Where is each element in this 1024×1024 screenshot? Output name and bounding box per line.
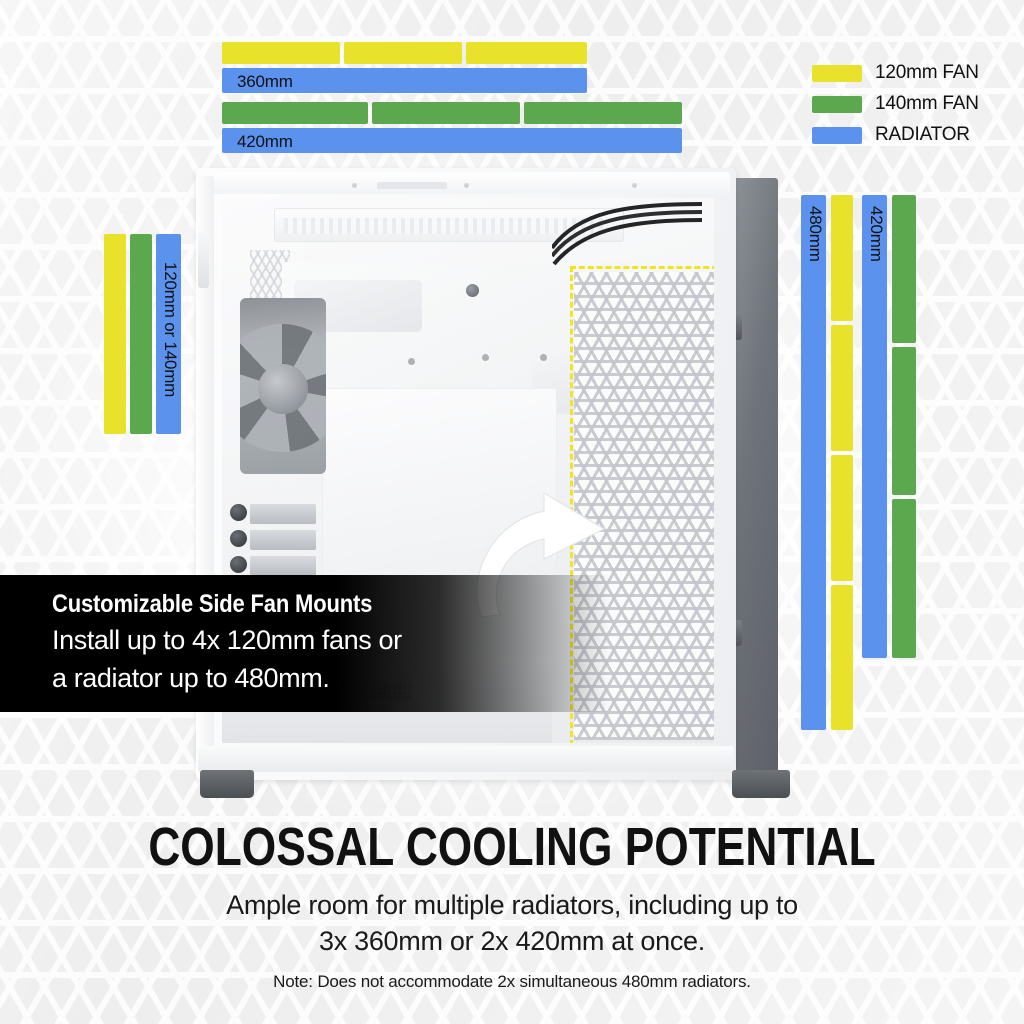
standoff-3	[482, 354, 489, 361]
side-fan-mount-callout: Customizable Side Fan Mounts Install up …	[0, 575, 610, 712]
front-panel-clip	[198, 232, 209, 288]
radiator-bar-420-side	[862, 195, 887, 658]
rear-io-panel	[734, 178, 778, 782]
callout-heading: Customizable Side Fan Mounts	[52, 590, 372, 619]
cable-bundle	[552, 202, 712, 268]
rear-exhaust-fan	[240, 298, 326, 474]
fan-segment-480-4	[831, 585, 853, 730]
slot-thumbscrew-3	[230, 556, 247, 573]
subtitle-line-1: Ample room for multiple radiators, inclu…	[0, 887, 1024, 923]
slot-thumbscrew-2	[230, 530, 247, 547]
fan-140-bar-left	[130, 234, 152, 434]
fan-120-bar-left	[104, 234, 126, 434]
expansion-slot-1	[250, 504, 316, 524]
case-foot-right	[732, 770, 790, 798]
top-screw-left	[352, 183, 357, 188]
radiator-label-420-top: 420mm	[237, 132, 293, 152]
callout-line-2: a radiator up to 480mm.	[52, 663, 329, 694]
tray-screw-top	[466, 284, 479, 297]
legend-label-120mm-fan: 120mm FAN	[875, 62, 979, 84]
case-top-panel	[202, 172, 730, 194]
fan-segment-420-1	[222, 102, 368, 124]
fan-segment-480-3	[831, 455, 853, 581]
legend-label-140mm-fan: 140mm FAN	[875, 93, 979, 115]
case-foot-left	[200, 770, 254, 798]
marketing-image: 360mm 420mm 120mm FAN 140mm FAN RADIATOR…	[0, 0, 1024, 1024]
legend-label-radiator: RADIATOR	[875, 124, 970, 146]
radiator-swatch	[812, 127, 862, 144]
fan-segment-360-2	[344, 42, 462, 64]
top-screw-right	[464, 183, 469, 188]
subtitle-line-2: 3x 360mm or 2x 420mm at once.	[0, 923, 1024, 959]
standoff-4	[540, 354, 547, 361]
fan-segment-420-side-1	[892, 195, 916, 343]
radiator-label-420-side: 420mm	[866, 206, 886, 262]
fan-segment-360-1	[222, 42, 340, 64]
fan-segment-480-1	[831, 195, 853, 321]
top-screw-far-right	[632, 183, 637, 188]
expansion-slot-2	[250, 530, 316, 550]
fan-140-swatch	[812, 96, 862, 113]
legend-item-120mm-fan: 120mm FAN	[812, 60, 979, 86]
cable-bundle-svg	[552, 202, 712, 268]
radiator-label-left: 120mm or 140mm	[160, 262, 180, 397]
callout-line-1: Install up to 4x 120mm fans or	[52, 625, 402, 656]
page-title: COLOSSAL COOLING POTENTIAL	[92, 820, 932, 875]
expansion-slot-3	[250, 556, 316, 576]
top-vent	[377, 182, 447, 189]
fan-segment-360-3	[466, 42, 587, 64]
case-base	[198, 746, 734, 772]
legend: 120mm FAN 140mm FAN RADIATOR	[812, 60, 979, 153]
radiator-label-360: 360mm	[237, 72, 293, 92]
slot-thumbscrew-1	[230, 504, 247, 521]
radiator-label-480: 480mm	[805, 206, 825, 262]
fan-segment-420-side-3	[892, 499, 916, 658]
fan-segment-420-side-2	[892, 347, 916, 495]
fan-segment-480-2	[831, 325, 853, 451]
fan-120-swatch	[812, 65, 862, 82]
bottom-copy-block: COLOSSAL COOLING POTENTIAL Ample room fo…	[0, 820, 1024, 992]
fan-segment-420-3	[524, 102, 682, 124]
footnote: Note: Does not accommodate 2x simultaneo…	[0, 972, 1024, 992]
standoff-2	[408, 358, 415, 365]
radiator-bar-480	[801, 195, 826, 730]
legend-item-140mm-fan: 140mm FAN	[812, 91, 979, 117]
fan-segment-420-2	[372, 102, 520, 124]
legend-item-radiator: RADIATOR	[812, 122, 979, 148]
